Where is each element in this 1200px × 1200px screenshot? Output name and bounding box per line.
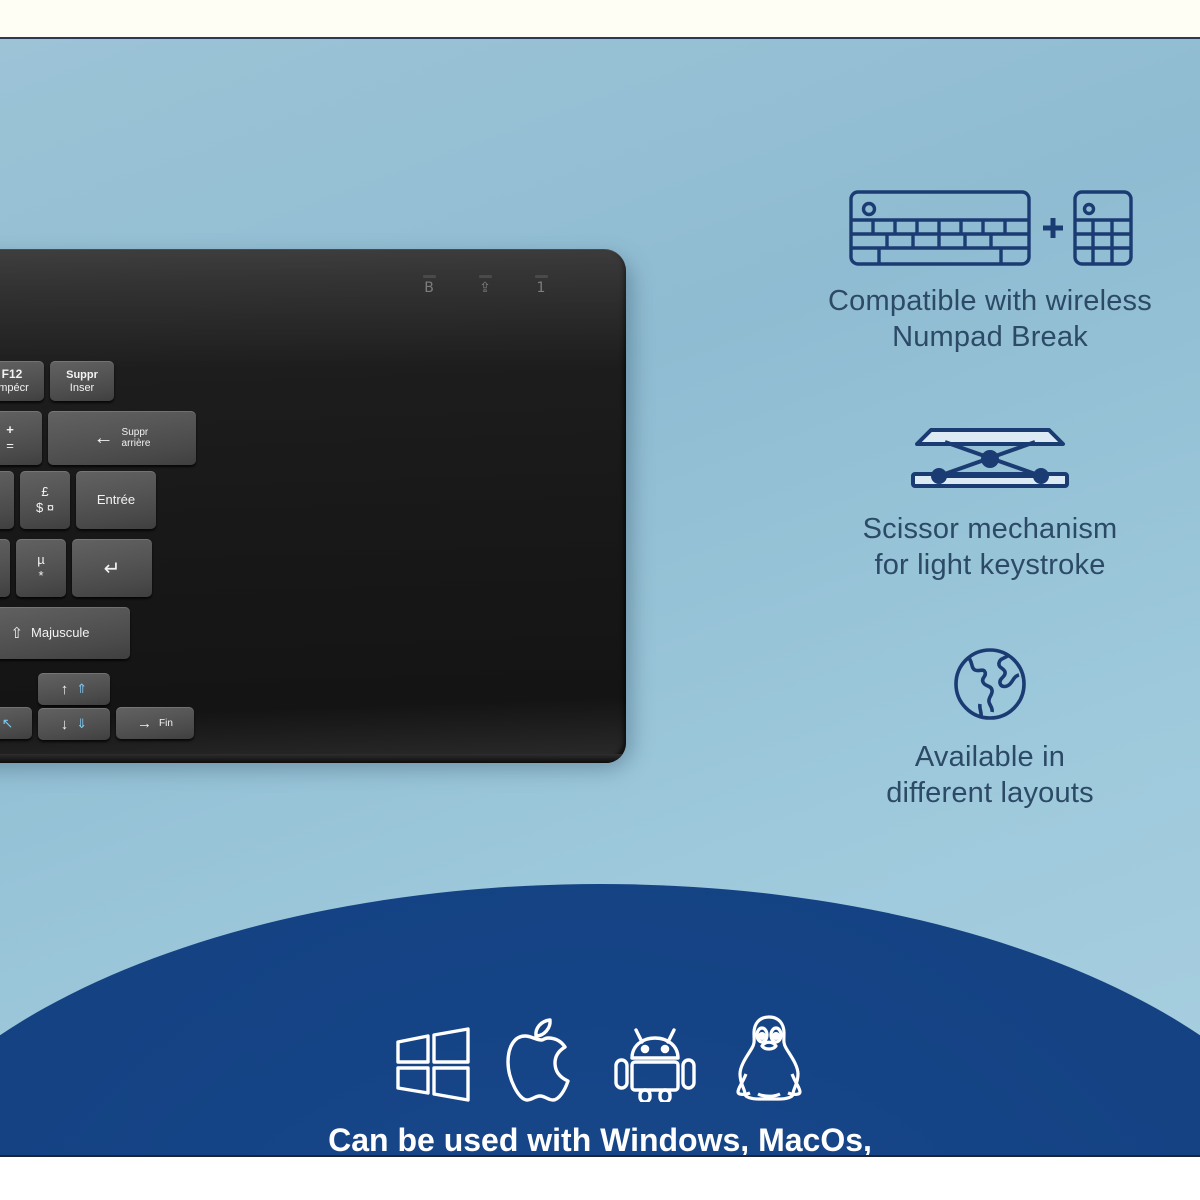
feature-layouts: Available in different layouts [770, 635, 1200, 811]
keyboard-modifier-row: Alt Gr ⌘ Ctrl ⌥ ← ↖ ↑ ⇑ [0, 673, 194, 741]
windows-icon [394, 1026, 472, 1107]
caps-lock-indicator: ⇪ [476, 275, 494, 295]
key-percent-u-grave[interactable]: % ù [0, 539, 10, 597]
feature-label: Compatible with wireless Numpad Break [770, 283, 1200, 355]
keyboard-plus-numpad-icon [770, 179, 1200, 277]
num-lock-icon: 1 [532, 281, 550, 295]
key-backspace[interactable]: ← Suppr arrière [48, 411, 196, 465]
led-slot [479, 275, 492, 278]
led-slot [535, 275, 548, 278]
keyboard-function-row: F6 ▶‖ F7 ▶❘ F8 🔇 F9 ◀- F10 ◀+ [0, 361, 114, 401]
keyboard-top-sheen [0, 249, 626, 369]
key-enter-arrow[interactable]: ↵ [72, 539, 152, 597]
linux-penguin-icon [732, 1014, 806, 1107]
keyboard-letter-row-top: T Y U I O P ¨ ^ £ $ ¤ En [0, 471, 156, 529]
caps-lock-icon: ⇪ [476, 281, 494, 295]
product-feature-image: B ⇪ 1 F6 ▶‖ F7 ▶❘ [0, 0, 1200, 1200]
keyboard-letter-row-bottom: B N ? , . ; / : [0, 607, 130, 659]
indicator-led-cluster: B ⇪ 1 [420, 275, 550, 295]
key-arrow-down-pagedown[interactable]: ↓ ⇓ [38, 708, 110, 740]
bluetooth-indicator: B [420, 275, 438, 295]
keyboard-bottom-edge [0, 754, 626, 763]
key-f12[interactable]: F12 Impécr [0, 361, 44, 401]
keyboard-number-row: 6 - 7 è 8 _ [0, 411, 196, 465]
led-slot [423, 275, 436, 278]
key-arrow-right-fin[interactable]: → Fin [116, 707, 194, 739]
key-majuscule-shift[interactable]: ⇧ Majuscule [0, 607, 130, 659]
banner-text: Can be used with Windows, MacOs, Android… [0, 1121, 1200, 1155]
key-mu-asterisk[interactable]: µ * [16, 539, 66, 597]
feature-label: Scissor mechanism for light keystroke [770, 511, 1200, 583]
background-panel: B ⇪ 1 F6 ▶‖ F7 ▶❘ [0, 39, 1200, 1155]
key-arrow-left[interactable]: ← ↖ [0, 707, 32, 739]
android-icon [612, 1020, 698, 1107]
num-lock-indicator: 1 [532, 275, 550, 295]
feature-list: Compatible with wireless Numpad Break [770, 179, 1200, 835]
os-logo-row [0, 1014, 1200, 1107]
key-pound-dollar[interactable]: £ $ ¤ [20, 471, 70, 529]
key-plus-equals[interactable]: + = [0, 411, 42, 465]
feature-scissor-mechanism: Scissor mechanism for light keystroke [770, 407, 1200, 583]
globe-icon [770, 635, 1200, 733]
feature-wireless-numpad: Compatible with wireless Numpad Break [770, 179, 1200, 355]
feature-label: Available in different layouts [770, 739, 1200, 811]
bottom-white-strip [0, 1157, 1200, 1200]
bluetooth-icon: B [420, 281, 438, 295]
key-diaeresis-circumflex[interactable]: ¨ ^ [0, 471, 14, 529]
key-entree[interactable]: Entrée [76, 471, 156, 529]
top-white-strip [0, 0, 1200, 37]
key-suppr-inser[interactable]: Suppr Inser [50, 361, 114, 401]
scissor-switch-icon [770, 407, 1200, 505]
key-arrow-up-pageup[interactable]: ↑ ⇑ [38, 673, 110, 705]
shift-up-arrow-icon: ⇧ [10, 624, 23, 642]
keyboard-letter-row-home: G H J K L M % ù µ * ↵ [0, 539, 152, 597]
apple-icon [506, 1018, 578, 1107]
keyboard-product-photo: B ⇪ 1 F6 ▶‖ F7 ▶❘ [0, 249, 626, 763]
